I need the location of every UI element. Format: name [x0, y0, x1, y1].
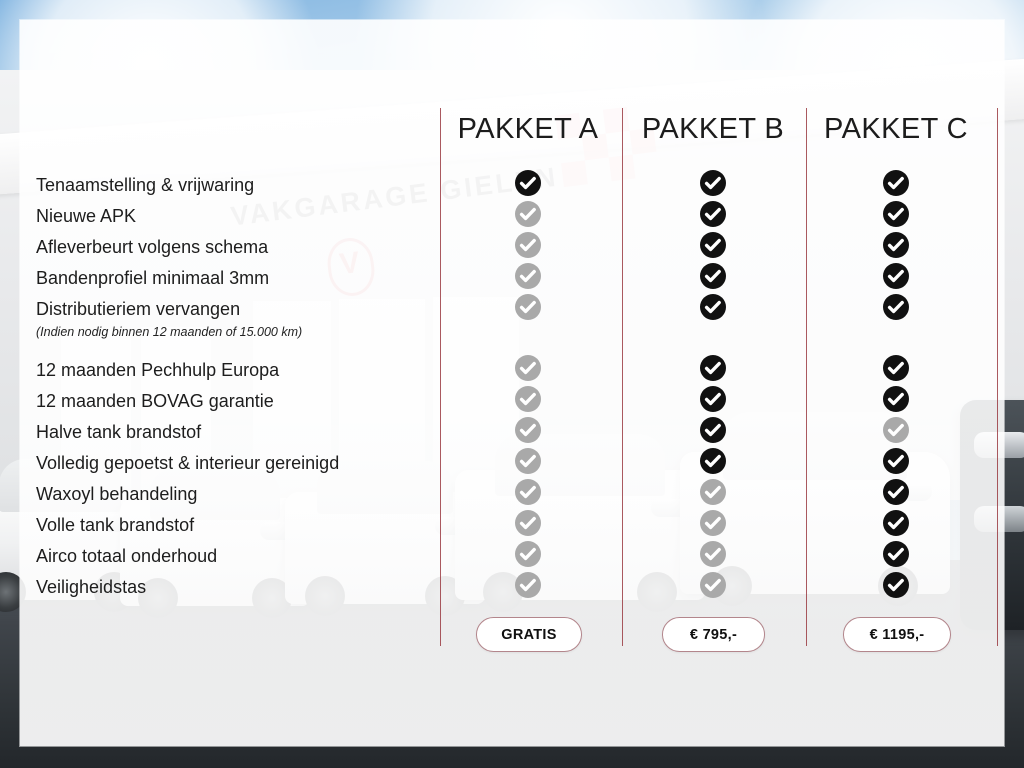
- check-b-11-off: [700, 541, 726, 567]
- column-divider-0: [440, 108, 441, 646]
- package-comparison-table: PAKKET APAKKET BPAKKET C Tenaamstelling …: [0, 0, 1024, 768]
- check-a-11-off: [515, 541, 541, 567]
- check-c-6-on: [883, 386, 909, 412]
- price-badge-a[interactable]: GRATIS: [476, 617, 582, 652]
- check-c-7-off: [883, 417, 909, 443]
- check-c-8-on: [883, 448, 909, 474]
- check-b-1-on: [700, 201, 726, 227]
- price-badge-c[interactable]: € 1195,-: [843, 617, 951, 652]
- screenshot-stage: VAKGARAGE GIELEN: [0, 0, 1024, 768]
- feature-label: Veiligheidstas: [36, 577, 146, 597]
- check-b-9-off: [700, 479, 726, 505]
- feature-label: Distributieriem vervangen: [36, 299, 240, 319]
- column-divider-3: [997, 108, 998, 646]
- check-a-0-on: [515, 170, 541, 196]
- feature-label: 12 maanden BOVAG garantie: [36, 391, 274, 411]
- check-c-4-on: [883, 294, 909, 320]
- feature-label: Afleverbeurt volgens schema: [36, 237, 268, 257]
- check-a-8-off: [515, 448, 541, 474]
- check-b-12-off: [700, 572, 726, 598]
- check-a-4-off: [515, 294, 541, 320]
- check-a-12-off: [515, 572, 541, 598]
- check-a-3-off: [515, 263, 541, 289]
- check-a-10-off: [515, 510, 541, 536]
- check-b-5-on: [700, 355, 726, 381]
- check-b-2-on: [700, 232, 726, 258]
- feature-label: Halve tank brandstof: [36, 422, 201, 442]
- check-b-3-on: [700, 263, 726, 289]
- feature-label: 12 maanden Pechhulp Europa: [36, 360, 279, 380]
- column-divider-1: [622, 108, 623, 646]
- package-heading-c: PAKKET C: [786, 113, 1006, 146]
- check-b-0-on: [700, 170, 726, 196]
- feature-label: Volledig gepoetst & interieur gereinigd: [36, 453, 339, 473]
- check-a-7-off: [515, 417, 541, 443]
- check-c-10-on: [883, 510, 909, 536]
- price-badge-b[interactable]: € 795,-: [662, 617, 765, 652]
- feature-label: Nieuwe APK: [36, 206, 136, 226]
- check-c-11-on: [883, 541, 909, 567]
- feature-label: Bandenprofiel minimaal 3mm: [36, 268, 269, 288]
- feature-label: Volle tank brandstof: [36, 515, 194, 535]
- check-c-2-on: [883, 232, 909, 258]
- check-c-12-on: [883, 572, 909, 598]
- check-b-4-on: [700, 294, 726, 320]
- check-a-2-off: [515, 232, 541, 258]
- check-c-1-on: [883, 201, 909, 227]
- feature-label: Airco totaal onderhoud: [36, 546, 217, 566]
- check-c-9-on: [883, 479, 909, 505]
- check-a-9-off: [515, 479, 541, 505]
- check-c-3-on: [883, 263, 909, 289]
- feature-label: Waxoyl behandeling: [36, 484, 197, 504]
- feature-footnote: (Indien nodig binnen 12 maanden of 15.00…: [36, 325, 302, 339]
- check-b-8-on: [700, 448, 726, 474]
- feature-label: Tenaamstelling & vrijwaring: [36, 175, 254, 195]
- check-b-10-off: [700, 510, 726, 536]
- check-c-5-on: [883, 355, 909, 381]
- check-c-0-on: [883, 170, 909, 196]
- column-divider-2: [806, 108, 807, 646]
- check-b-7-on: [700, 417, 726, 443]
- check-b-6-on: [700, 386, 726, 412]
- check-a-6-off: [515, 386, 541, 412]
- check-a-1-off: [515, 201, 541, 227]
- check-a-5-off: [515, 355, 541, 381]
